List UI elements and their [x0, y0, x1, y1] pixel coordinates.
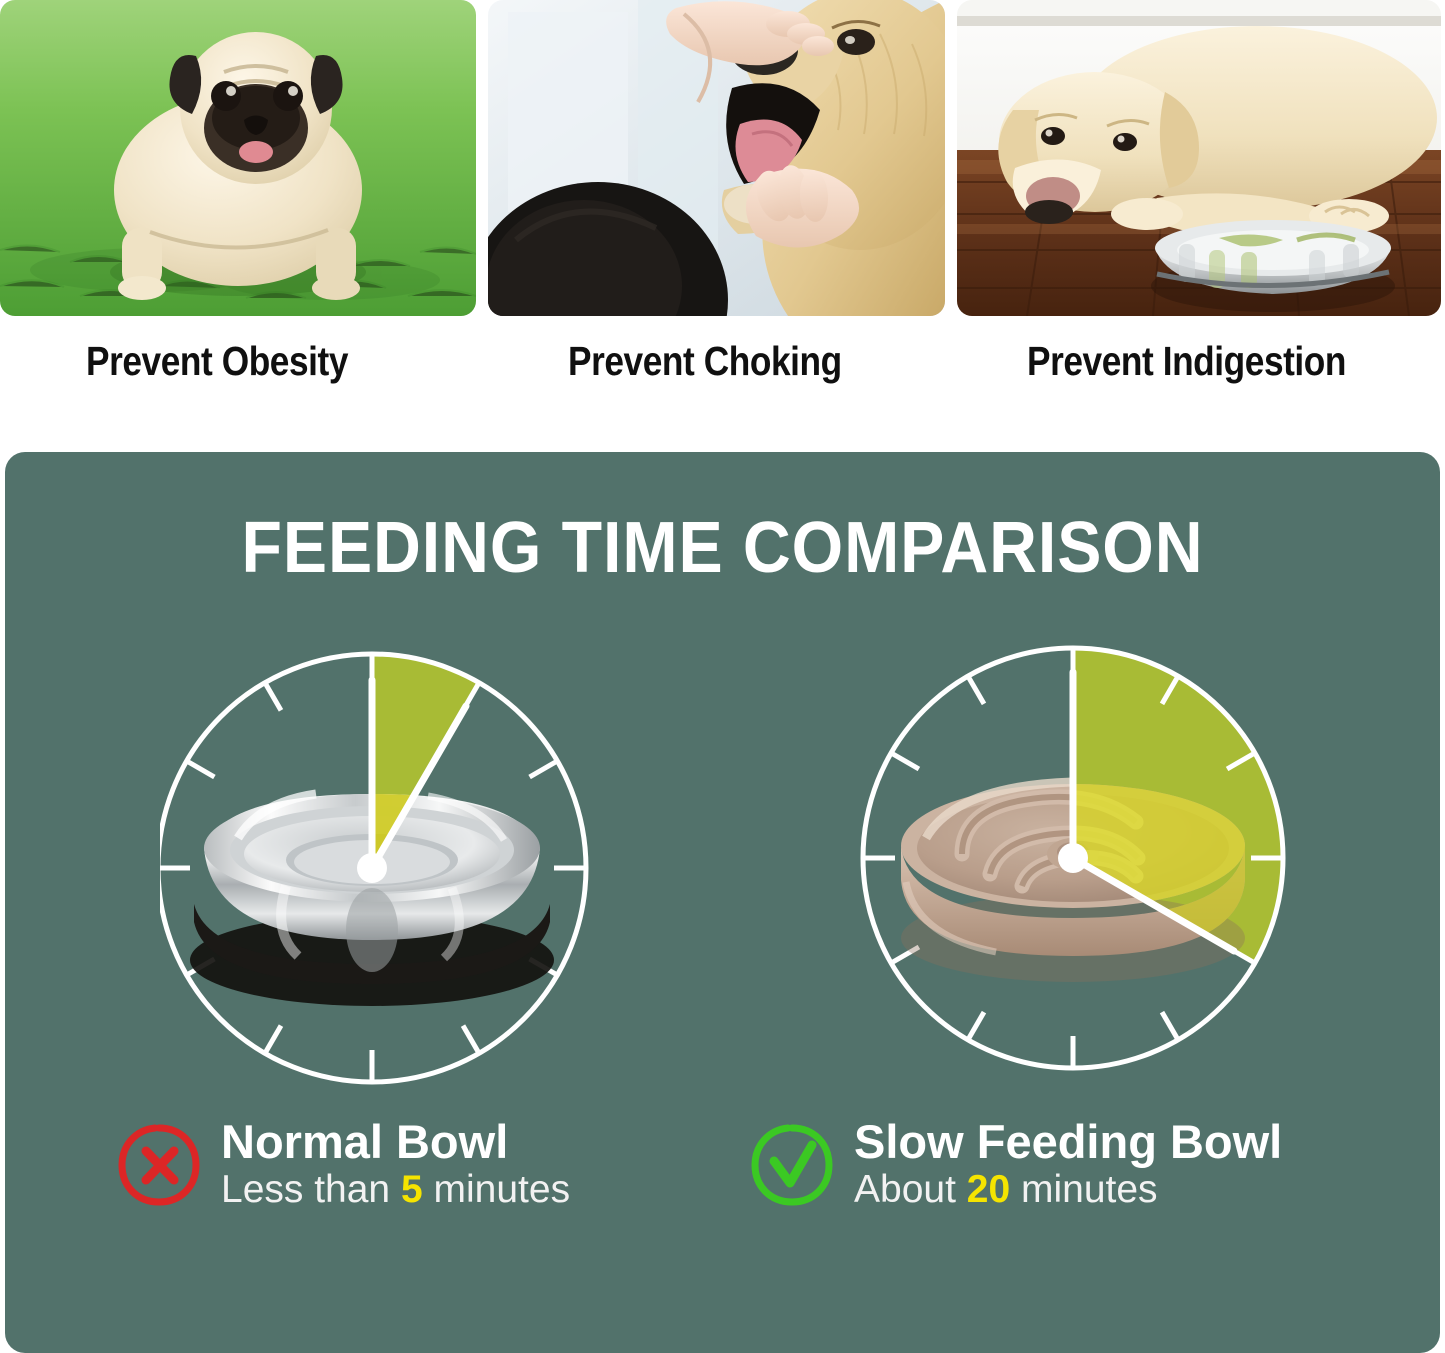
slow-feeding-bowl-sub-suffix: minutes — [1010, 1168, 1157, 1211]
slow-feeding-bowl-clock — [850, 642, 1300, 1112]
slow-feeding-bowl-minutes-value: 20 — [967, 1168, 1010, 1211]
cross-circle-icon — [117, 1123, 201, 1207]
photo-indigestion-dog — [957, 0, 1441, 316]
clock-comparison-row — [5, 642, 1440, 1112]
photo-obese-pug — [0, 0, 476, 316]
normal-bowl-text: Normal Bowl Less than 5 minutes — [221, 1117, 570, 1213]
normal-bowl-title: Normal Bowl — [221, 1117, 570, 1167]
feeding-time-comparison-card: FEEDING TIME COMPARISON — [5, 452, 1440, 1353]
card-title: FEEDING TIME COMPARISON — [62, 507, 1382, 589]
caption-prevent-indigestion: Prevent Indigestion — [1027, 338, 1346, 385]
photo-choking-dog — [488, 0, 945, 316]
caption-prevent-obesity: Prevent Obesity — [86, 338, 348, 385]
benefit-captions: Prevent Obesity Prevent Choking Prevent … — [0, 324, 1445, 424]
slow-feeding-bowl-title: Slow Feeding Bowl — [854, 1117, 1282, 1167]
normal-bowl-label: Normal Bowl Less than 5 minutes — [117, 1117, 570, 1213]
normal-bowl-minutes-value: 5 — [401, 1168, 423, 1211]
slow-feeding-bowl-label: Slow Feeding Bowl About 20 minutes — [750, 1117, 1282, 1213]
normal-bowl-sub-prefix: Less than — [221, 1168, 401, 1211]
normal-bowl-clock — [160, 642, 590, 1112]
infographic-page: Prevent Obesity Prevent Choking Prevent … — [0, 0, 1445, 1353]
check-circle-icon — [750, 1123, 834, 1207]
normal-bowl-sub-suffix: minutes — [423, 1168, 570, 1211]
slow-feeding-bowl-text: Slow Feeding Bowl About 20 minutes — [854, 1117, 1282, 1213]
slow-feeding-bowl-sub-prefix: About — [854, 1168, 967, 1211]
caption-prevent-choking: Prevent Choking — [568, 338, 842, 385]
benefit-photo-strip — [0, 0, 1445, 316]
normal-bowl-subtitle: Less than 5 minutes — [221, 1167, 570, 1213]
comparison-labels: Normal Bowl Less than 5 minutes Slow Fee… — [5, 1117, 1440, 1297]
slow-feeding-bowl-subtitle: About 20 minutes — [854, 1167, 1282, 1213]
